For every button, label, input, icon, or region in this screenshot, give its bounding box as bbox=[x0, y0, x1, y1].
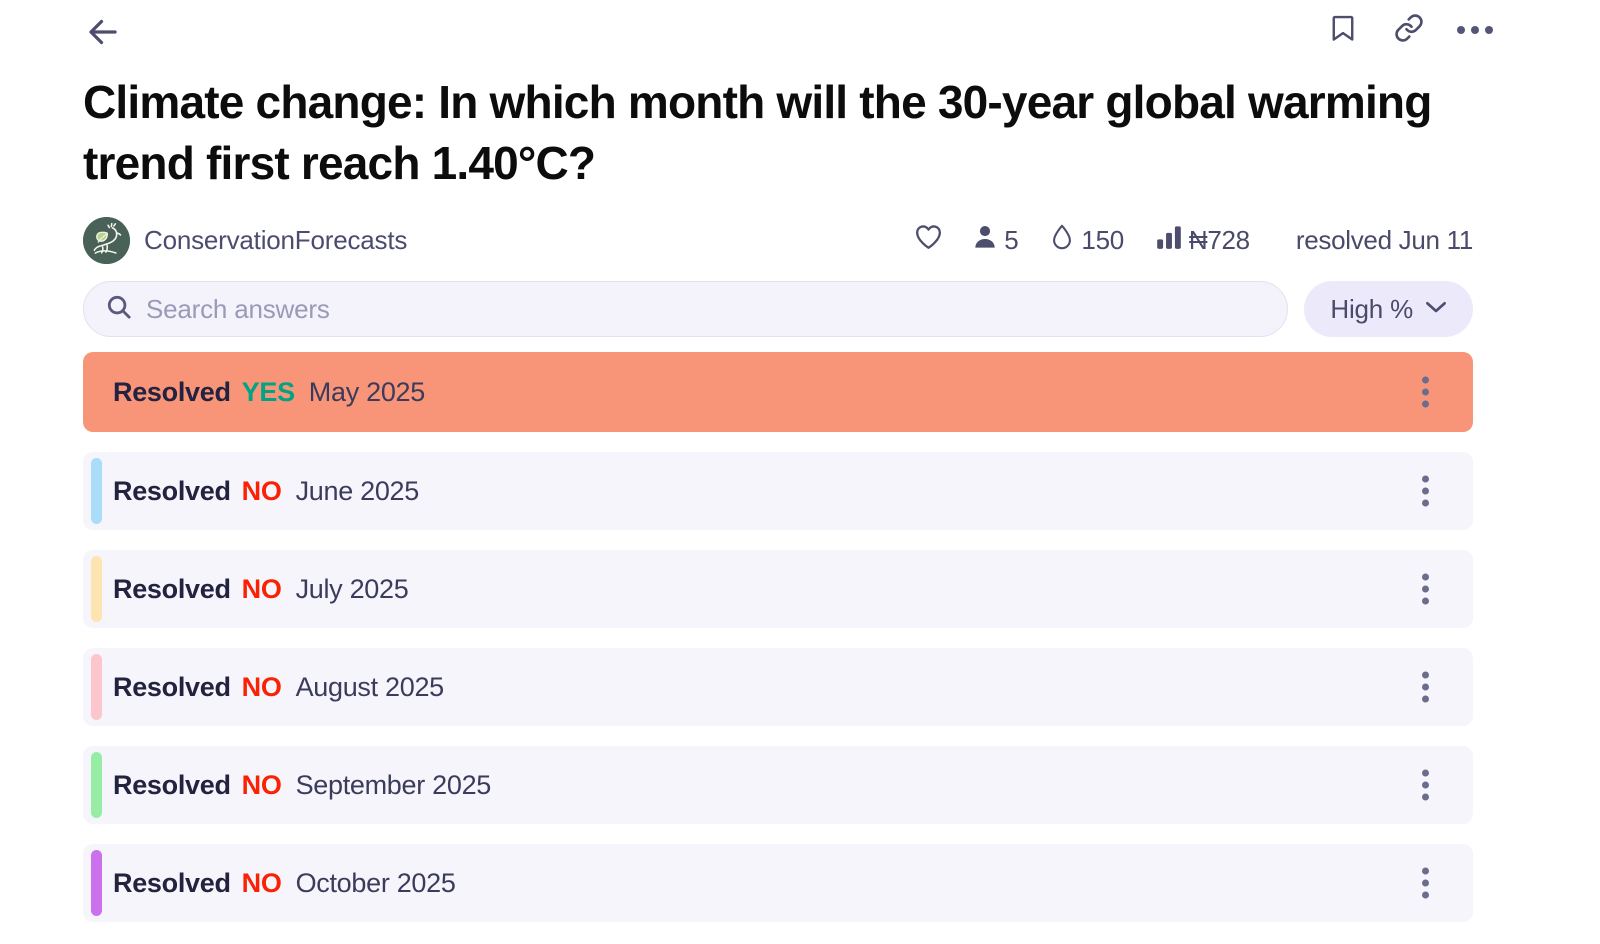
person-icon bbox=[973, 224, 997, 257]
traders-stat: 5 bbox=[957, 224, 1034, 257]
bookmark-icon bbox=[1329, 13, 1357, 48]
answer-color-bar bbox=[91, 556, 102, 622]
answer-text: ResolvedNOJune 2025 bbox=[83, 476, 419, 507]
question-page: Climate change: In which month will the … bbox=[0, 0, 1600, 944]
ellipsis-icon bbox=[1457, 26, 1493, 34]
top-bar bbox=[0, 0, 1600, 68]
answer-label: October 2025 bbox=[293, 868, 456, 899]
search-box[interactable] bbox=[83, 281, 1288, 337]
kebab-menu-icon[interactable] bbox=[1416, 470, 1435, 513]
back-button[interactable] bbox=[83, 14, 123, 54]
answer-label: September 2025 bbox=[293, 770, 491, 801]
avatar bbox=[83, 217, 130, 264]
answer-color-bar bbox=[91, 850, 102, 916]
liquidity-value: 150 bbox=[1081, 225, 1123, 256]
meta-row: ConservationForecasts 5 bbox=[83, 216, 1473, 264]
outcome-label: NO bbox=[242, 476, 282, 507]
author-name: ConservationForecasts bbox=[144, 225, 407, 256]
answer-text: ResolvedNOOctober 2025 bbox=[83, 868, 456, 899]
volume-value: ₦728 bbox=[1189, 225, 1250, 256]
chevron-down-icon bbox=[1425, 300, 1447, 319]
answer-row[interactable]: ResolvedNOJune 2025 bbox=[83, 452, 1473, 530]
bar-chart-icon bbox=[1156, 225, 1182, 256]
answer-row[interactable]: ResolvedNOSeptember 2025 bbox=[83, 746, 1473, 824]
kebab-menu-icon[interactable] bbox=[1416, 666, 1435, 709]
outcome-label: YES bbox=[242, 377, 295, 408]
search-icon bbox=[106, 294, 132, 325]
answer-label: June 2025 bbox=[293, 476, 419, 507]
link-icon bbox=[1394, 13, 1424, 48]
answer-text: ResolvedYESMay 2025 bbox=[83, 377, 425, 408]
bookmark-button[interactable] bbox=[1326, 13, 1360, 47]
answer-row[interactable]: ResolvedNOAugust 2025 bbox=[83, 648, 1473, 726]
droplet-icon bbox=[1050, 223, 1074, 258]
answer-label: August 2025 bbox=[293, 672, 444, 703]
kebab-menu-icon[interactable] bbox=[1416, 862, 1435, 905]
sort-label: High % bbox=[1330, 294, 1413, 325]
outcome-label: NO bbox=[242, 868, 282, 899]
answer-text: ResolvedNOSeptember 2025 bbox=[83, 770, 491, 801]
copy-link-button[interactable] bbox=[1392, 13, 1426, 47]
kebab-menu-icon[interactable] bbox=[1416, 371, 1435, 414]
answer-color-bar bbox=[91, 654, 102, 720]
arrow-left-icon bbox=[85, 14, 121, 55]
answers-list: ResolvedYESMay 2025ResolvedNOJune 2025Re… bbox=[83, 352, 1473, 942]
kebab-menu-icon[interactable] bbox=[1416, 764, 1435, 807]
resolved-label: Resolved bbox=[113, 476, 231, 507]
resolved-label: Resolved bbox=[113, 672, 231, 703]
volume-stat: ₦728 bbox=[1140, 225, 1266, 256]
sort-dropdown[interactable]: High % bbox=[1304, 281, 1473, 337]
answer-text: ResolvedNOJuly 2025 bbox=[83, 574, 408, 605]
answer-label: May 2025 bbox=[306, 377, 425, 408]
resolved-label: Resolved bbox=[113, 770, 231, 801]
answer-color-bar bbox=[91, 752, 102, 818]
resolved-label: Resolved bbox=[113, 574, 231, 605]
answer-color-bar bbox=[91, 458, 102, 524]
traders-count: 5 bbox=[1004, 225, 1018, 256]
resolved-label: Resolved bbox=[113, 868, 231, 899]
search-row: High % bbox=[83, 281, 1473, 337]
outcome-label: NO bbox=[242, 672, 282, 703]
kebab-menu-icon[interactable] bbox=[1416, 568, 1435, 611]
topbar-actions bbox=[1326, 13, 1492, 47]
more-options-button[interactable] bbox=[1458, 13, 1492, 47]
outcome-label: NO bbox=[242, 574, 282, 605]
stats-group: 5 150 ₦728 bbox=[898, 223, 1473, 258]
answer-text: ResolvedNOAugust 2025 bbox=[83, 672, 444, 703]
search-input[interactable] bbox=[146, 294, 1265, 325]
heart-icon bbox=[914, 223, 943, 257]
answer-row[interactable]: ResolvedNOJuly 2025 bbox=[83, 550, 1473, 628]
answer-row[interactable]: ResolvedYESMay 2025 bbox=[83, 352, 1473, 432]
resolved-label: Resolved bbox=[113, 377, 231, 408]
outcome-label: NO bbox=[242, 770, 282, 801]
answer-label: July 2025 bbox=[293, 574, 409, 605]
like-button[interactable] bbox=[898, 223, 957, 257]
status-badge: resolved Jun 11 bbox=[1266, 225, 1473, 256]
liquidity-stat: 150 bbox=[1034, 223, 1139, 258]
answer-row[interactable]: ResolvedNOOctober 2025 bbox=[83, 844, 1473, 922]
page-title: Climate change: In which month will the … bbox=[83, 72, 1433, 194]
author-link[interactable]: ConservationForecasts bbox=[83, 217, 407, 264]
